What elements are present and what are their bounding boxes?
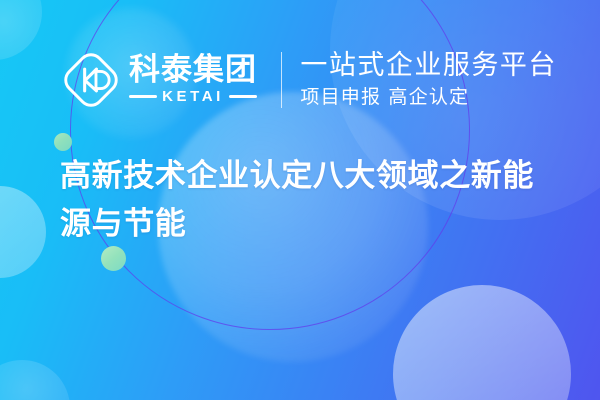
decor-dot-green-upper	[54, 133, 72, 151]
decor-circle-bottom-left	[0, 360, 70, 400]
brand-name-en: KETAI	[162, 88, 224, 105]
tagline-secondary: 项目申报 高企认定	[300, 85, 557, 110]
ketai-diamond-kd-logo-icon	[62, 51, 120, 109]
brand-name-cn: 科泰集团	[129, 55, 257, 87]
brand-logo-wordmark: 科泰集团 KETAI	[129, 55, 257, 106]
rule-right-icon	[229, 95, 257, 98]
promo-banner: 科泰集团 KETAI 一站式企业服务平台 项目申报 高企认定 高新技术企业认定八…	[0, 0, 600, 400]
rule-left-icon	[129, 95, 157, 98]
header-divider	[281, 52, 282, 108]
brand-logo[interactable]: 科泰集团 KETAI	[62, 51, 257, 109]
brand-name-en-row: KETAI	[129, 88, 257, 105]
tagline-primary: 一站式企业服务平台	[300, 50, 557, 82]
brand-tagline: 一站式企业服务平台 项目申报 高企认定	[300, 50, 557, 110]
page-title: 高新技术企业认定八大领域之新能源与节能	[60, 152, 560, 248]
decor-circle-top-left	[0, 0, 42, 60]
banner-header: 科泰集团 KETAI 一站式企业服务平台 项目申报 高企认定	[62, 40, 557, 120]
decor-dot-green-lower	[101, 246, 126, 271]
decor-circle-left-edge	[0, 186, 46, 278]
decor-circle-bottom-right	[393, 285, 571, 400]
